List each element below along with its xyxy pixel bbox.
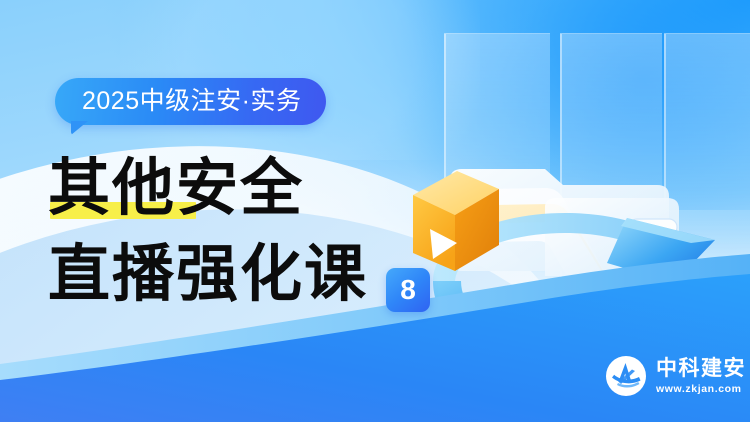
episode-number: 8 xyxy=(400,276,416,304)
category-badge-tail xyxy=(71,121,88,135)
episode-badge: 8 xyxy=(386,268,430,312)
headline-line-2-text: 直播强化课 xyxy=(48,237,368,310)
headline-line-1: 其他安全 xyxy=(48,152,468,224)
course-banner: 2025中级注安·实务 其他安全 直播强化课 8 中科建安 www.zkja xyxy=(0,0,750,422)
category-badge-label: 2025中级注安·实务 xyxy=(82,89,301,114)
brand-logo[interactable]: 中科建安 www.zkjan.com xyxy=(605,355,746,397)
brand-url: www.zkjan.com xyxy=(656,383,746,395)
brand-name: 中科建安 xyxy=(656,357,746,380)
zkjan-logo-icon xyxy=(605,355,647,397)
brand-logo-text: 中科建安 www.zkjan.com xyxy=(656,357,746,395)
category-badge[interactable]: 2025中级注安·实务 xyxy=(55,78,326,125)
headline-line-1-text: 其他安全 xyxy=(48,151,304,224)
